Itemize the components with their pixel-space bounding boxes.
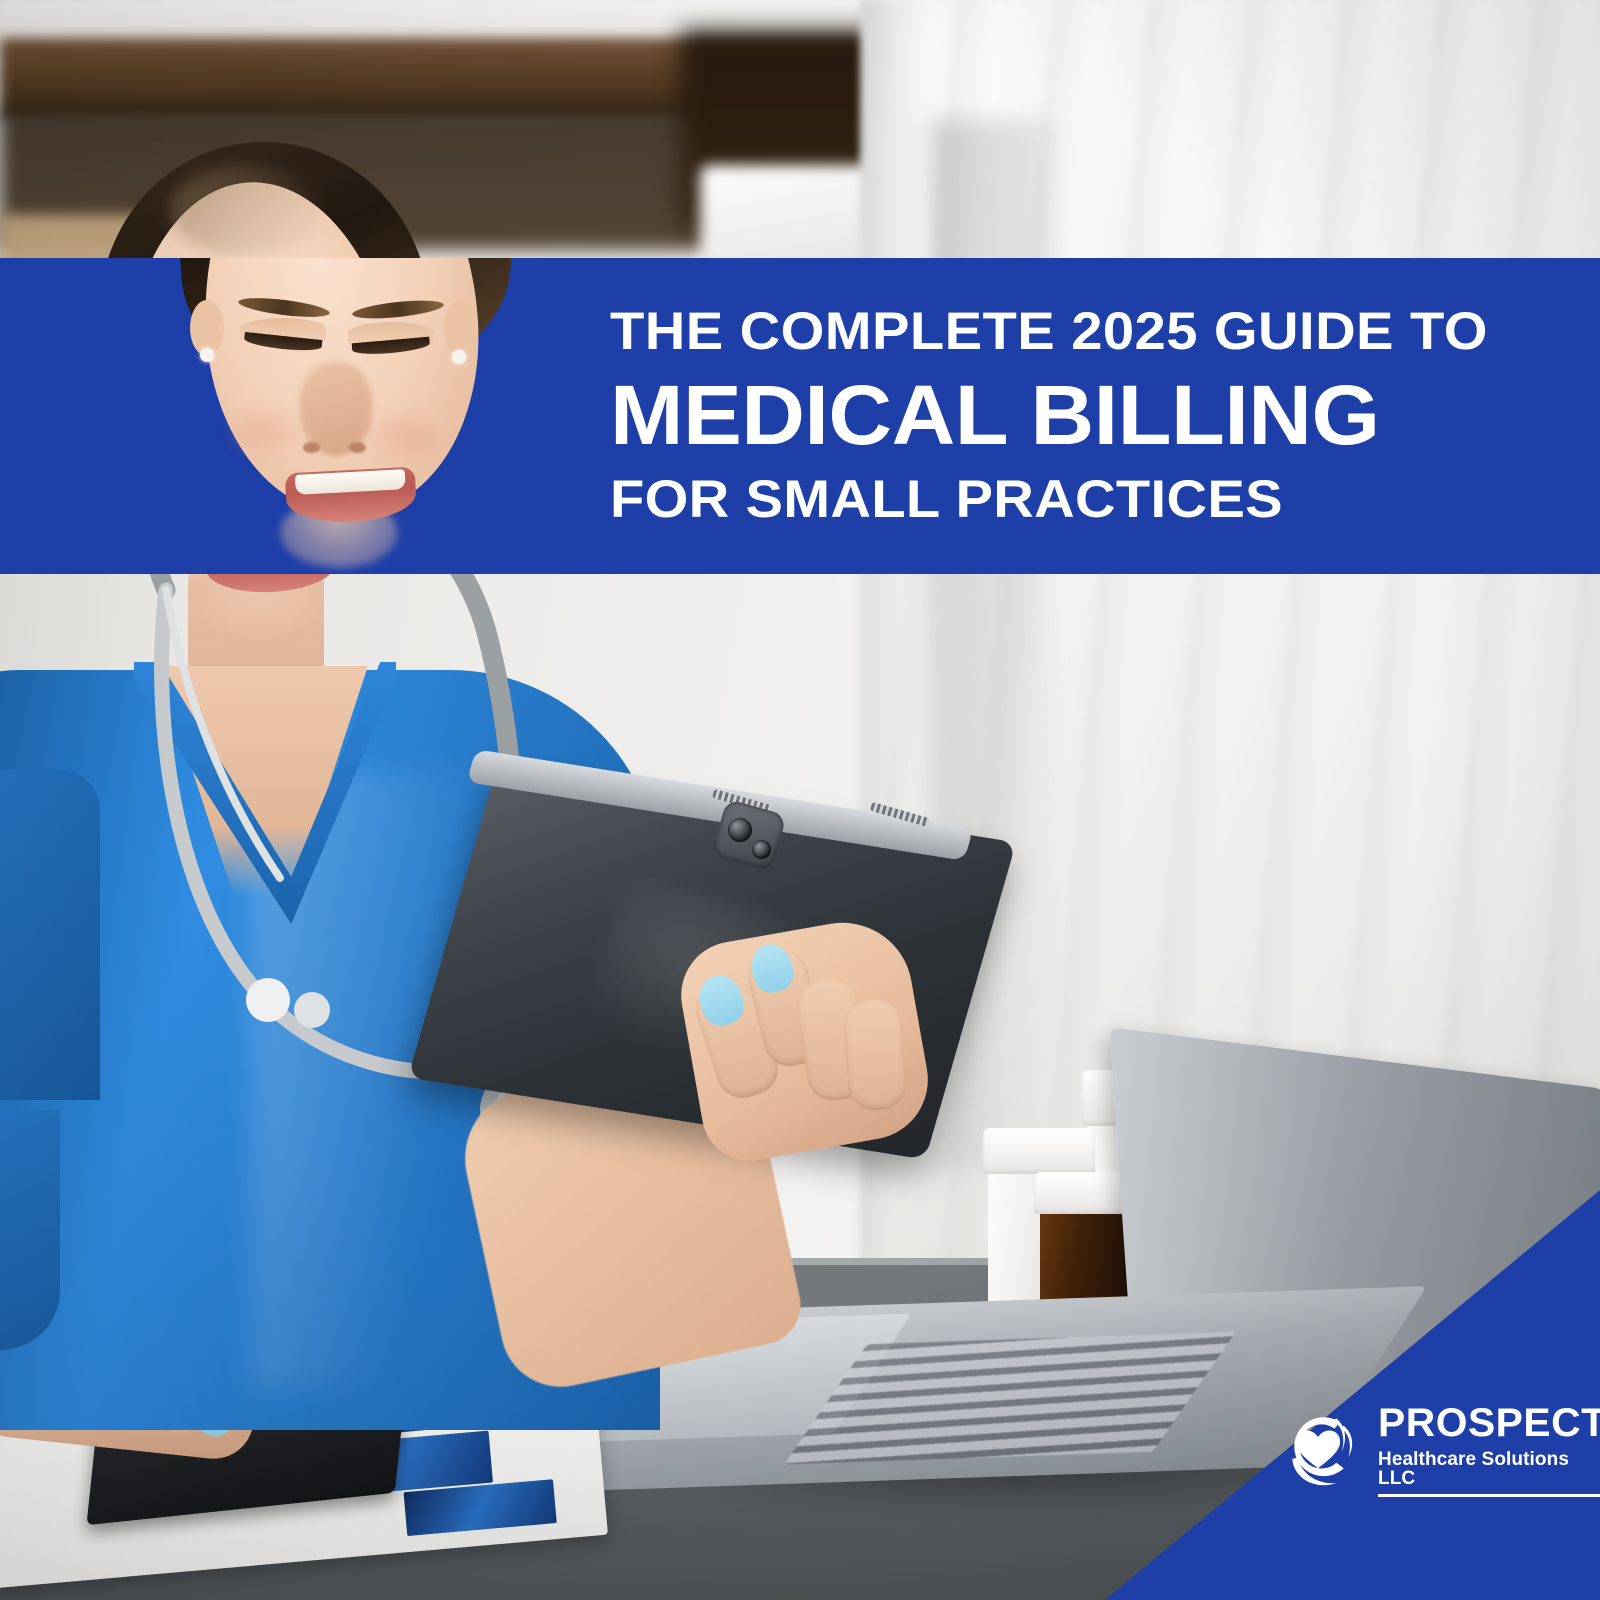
cheek-left-overlap: [228, 408, 298, 456]
tablet-camera-lens-2: [752, 840, 771, 859]
earring-left-overlap: [200, 348, 214, 362]
background-photo: [0, 0, 1600, 1600]
headline-block: THE COMPLETE 2025 GUIDE TO MEDICAL BILLI…: [610, 258, 1570, 574]
ear-right-overlap: [444, 300, 478, 356]
logo-subtitle: Healthcare Solutions LLC: [1378, 1450, 1600, 1488]
brand-logo[interactable]: PROSPECT Healthcare Solutions LLC: [1272, 1392, 1582, 1504]
logo-name: PROSPECT: [1378, 1403, 1600, 1443]
logo-wordmark: PROSPECT Healthcare Solutions LLC: [1378, 1399, 1600, 1497]
cheek-right-overlap: [372, 412, 442, 460]
tablet-camera-lens: [728, 818, 752, 842]
nostril-right-overlap: [349, 442, 366, 453]
headline-line-1: THE COMPLETE 2025 GUIDE TO: [610, 305, 1600, 359]
nostril-left-overlap: [303, 442, 320, 453]
earring-right-overlap: [452, 350, 466, 364]
headline-line-3: FOR SMALL PRACTICES: [610, 473, 1600, 527]
finger-4: [842, 998, 908, 1112]
poster-canvas: THE COMPLETE 2025 GUIDE TO MEDICAL BILLI…: [0, 0, 1600, 1600]
teeth-overlap: [295, 469, 406, 495]
pill-bottle-cap-front: [983, 1128, 1095, 1174]
logo-underline: [1378, 1494, 1600, 1497]
face-overlap-region: [160, 258, 530, 574]
mouth-overlap: [285, 467, 418, 526]
headline-line-2: MEDICAL BILLING: [610, 371, 1600, 459]
hand-heart-circle-icon: [1272, 1402, 1364, 1494]
